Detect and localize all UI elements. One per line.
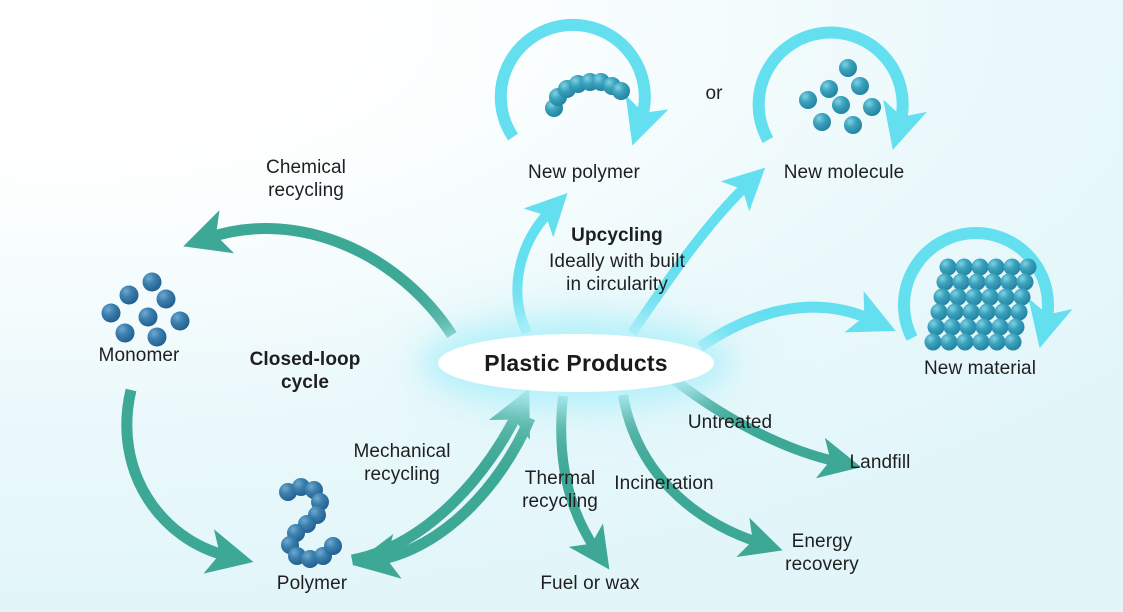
node-label-monomer[interactable]: Monomer — [66, 344, 212, 367]
node-label-polymer[interactable]: Polymer — [238, 572, 386, 595]
edge-label-upcycling-subtitle: Ideally with built in circularity — [538, 250, 696, 296]
new-material-lattice-icon — [925, 259, 1037, 351]
node-label-energy-recovery[interactable]: Energy recovery — [752, 530, 892, 576]
node-label-new-polymer[interactable]: New polymer — [500, 161, 668, 184]
label-or-connector: or — [690, 82, 738, 105]
edge-label-untreated: Untreated — [660, 411, 800, 434]
arrow-monomer-to-polymer — [127, 390, 228, 556]
hub-plastic-products[interactable]: Plastic Products — [438, 334, 714, 392]
new-molecule-dots-icon — [799, 59, 881, 134]
arrow-chemical-recycling — [208, 228, 452, 335]
edge-label-chemical-recycling: Chemical recycling — [226, 156, 386, 202]
polymer-chain-icon — [279, 478, 342, 568]
node-label-new-material[interactable]: New material — [896, 357, 1064, 380]
node-label-landfill[interactable]: Landfill — [800, 451, 960, 474]
edge-label-incineration: Incineration — [592, 472, 736, 495]
arrow-layer — [0, 0, 1123, 612]
diagram-canvas: Plastic Products Chemical recycling Clos… — [0, 0, 1123, 612]
monomer-dots-icon — [102, 273, 190, 347]
hub-label: Plastic Products — [484, 350, 667, 377]
node-label-fuel-or-wax[interactable]: Fuel or wax — [504, 572, 676, 595]
new-polymer-bead-chain-icon — [545, 73, 630, 117]
node-label-new-molecule[interactable]: New molecule — [756, 161, 932, 184]
edge-label-upcycling: Upcycling — [540, 224, 694, 247]
edge-label-closed-loop-cycle: Closed-loop cycle — [225, 348, 385, 394]
arrow-upcycling-new-material — [700, 307, 872, 347]
edge-label-mechanical-recycling: Mechanical recycling — [322, 440, 482, 486]
